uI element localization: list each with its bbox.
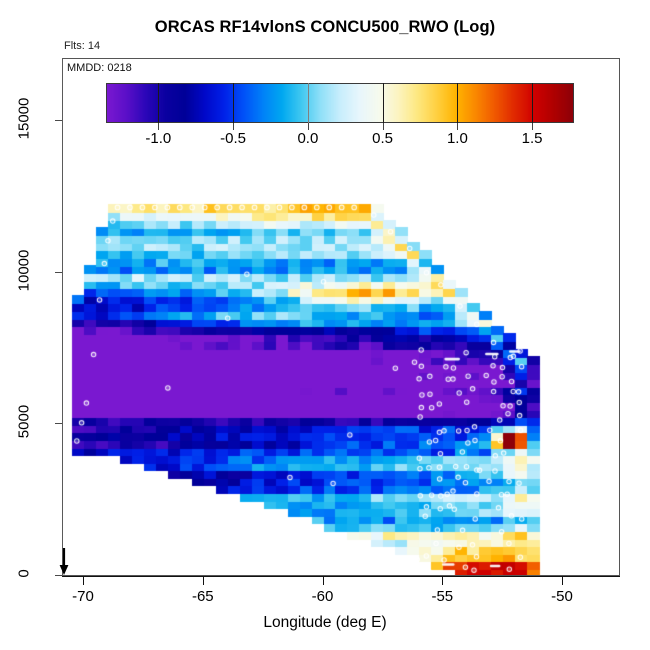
x-tick-label: -50 [551, 588, 573, 605]
y-tick-label: 15000 [16, 95, 33, 143]
x-tick [203, 577, 204, 585]
colorbar-tick-mark [158, 123, 159, 130]
x-tick [83, 577, 84, 585]
colorbar-tick-mark [308, 123, 309, 130]
x-tick-label: -55 [431, 588, 453, 605]
colorbar-tick-mark [383, 123, 384, 130]
mmdd-annotation: MMDD: 0218 [67, 62, 132, 74]
x-axis-line [62, 576, 620, 577]
x-tick-label: -65 [192, 588, 214, 605]
plot-root: ORCAS RF14vlonS CONCU500_RWO (Log) Flts:… [0, 0, 650, 650]
colorbar-tick-label: -0.5 [220, 130, 246, 147]
y-axis-label: Altitude (m) [0, 259, 1, 338]
colorbar-tick [457, 83, 458, 123]
page-title: ORCAS RF14vlonS CONCU500_RWO (Log) [0, 18, 650, 37]
colorbar-tick-label: 1.0 [447, 130, 468, 147]
y-tick [55, 423, 62, 424]
x-tick-label: -70 [72, 588, 94, 605]
y-tick-label: 0 [16, 550, 33, 598]
colorbar-tick-label: 0.5 [372, 130, 393, 147]
colorbar-tick [532, 83, 533, 123]
colorbar-tick-label: 0.0 [297, 130, 318, 147]
colorbar-tick [158, 83, 159, 123]
colorbar-tick-mark [233, 123, 234, 130]
x-tick [442, 577, 443, 585]
x-axis-label: Longitude (deg E) [0, 614, 650, 632]
y-tick [55, 272, 62, 273]
plot-frame: MMDD: 0218 -1.0-0.50.00.51.01.5 [62, 58, 620, 576]
x-tick [562, 577, 563, 585]
colorbar-tick-mark [532, 123, 533, 130]
colorbar-tick-label: 1.5 [522, 130, 543, 147]
y-tick-label: 5000 [16, 398, 33, 446]
x-tick-label: -60 [312, 588, 334, 605]
colorbar[interactable]: -1.0-0.50.00.51.01.5 [106, 83, 574, 123]
colorbar-tick [233, 83, 234, 123]
colorbar-tick [308, 83, 309, 123]
flights-annotation: Flts: 14 [64, 40, 100, 52]
y-tick-label: 10000 [16, 246, 33, 294]
colorbar-tick-label: -1.0 [145, 130, 171, 147]
colorbar-tick [383, 83, 384, 123]
colorbar-gradient [106, 83, 574, 123]
colorbar-tick-mark [457, 123, 458, 130]
y-tick [55, 120, 62, 121]
x-tick [323, 577, 324, 585]
